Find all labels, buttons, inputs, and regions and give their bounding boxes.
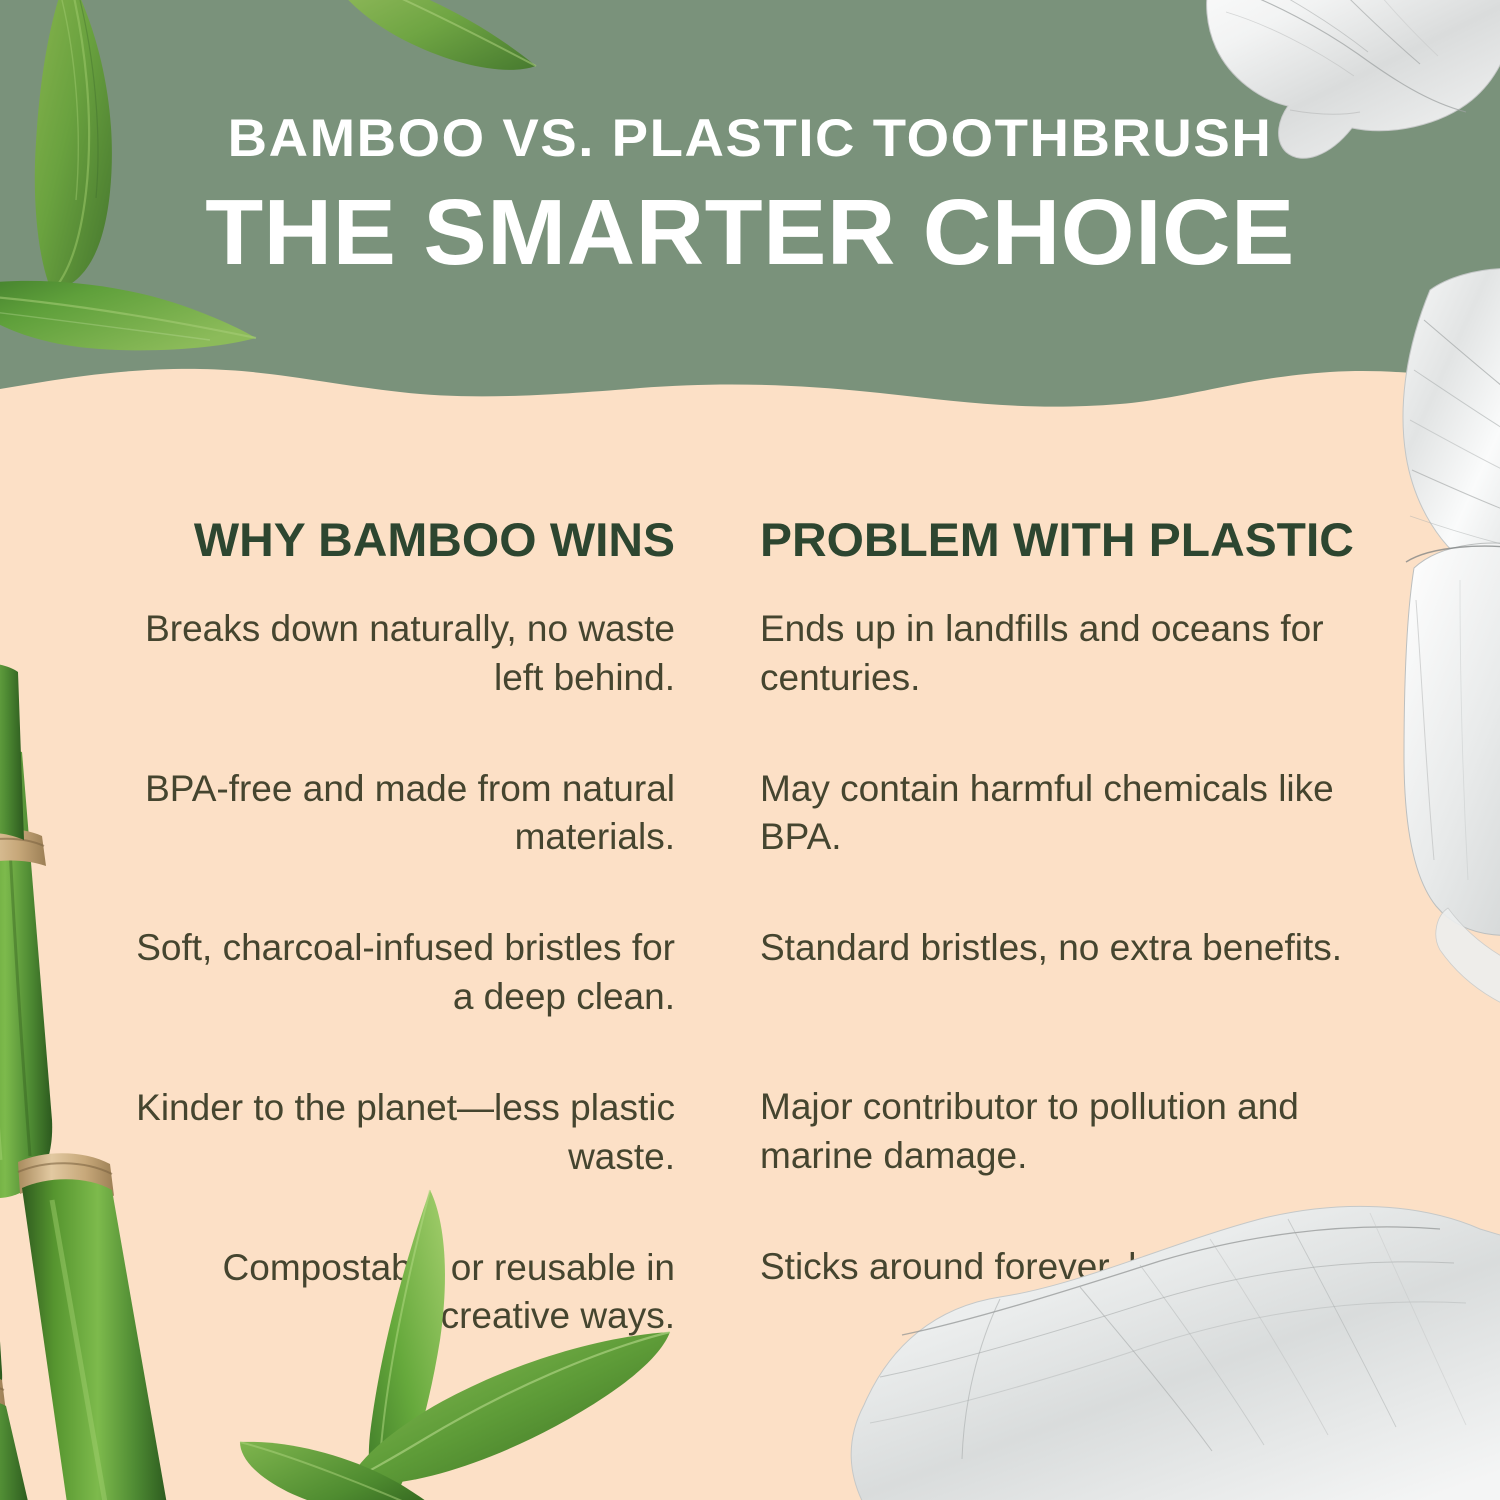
column-heading-bamboo: WHY BAMBOO WINS [109,516,675,563]
infographic-poster: BAMBOO VS. PLASTIC TOOTHBRUSH THE SMARTE… [0,0,1500,1500]
list-item: BPA-free and made from natural materials… [120,765,675,863]
bullet-list-bamboo: Breaks down naturally, no waste left beh… [120,605,675,1341]
list-item: Breaks down naturally, no waste left beh… [120,605,675,703]
header-band [0,0,1500,420]
list-item: Kinder to the planet—less plastic waste. [120,1084,675,1182]
list-item: Compostable or reusable in creative ways… [120,1244,675,1342]
list-item: Major contributor to pollution and marin… [760,1083,1420,1181]
list-item: Ends up in landfills and oceans for cent… [760,605,1420,703]
list-item: Standard bristles, no extra benefits. [760,924,1420,973]
column-bamboo: WHY BAMBOO WINS Breaks down naturally, n… [120,516,675,1341]
list-item: May contain harmful chemicals like BPA. [760,765,1420,863]
bullet-list-plastic: Ends up in landfills and oceans for cent… [760,605,1420,1292]
list-item: Soft, charcoal-infused bristles for a de… [120,924,675,1022]
column-plastic: PROBLEM WITH PLASTIC Ends up in landfill… [760,516,1420,1292]
list-item: Sticks around forever, harming wildlife. [760,1243,1420,1292]
column-heading-plastic: PROBLEM WITH PLASTIC [760,516,1433,563]
